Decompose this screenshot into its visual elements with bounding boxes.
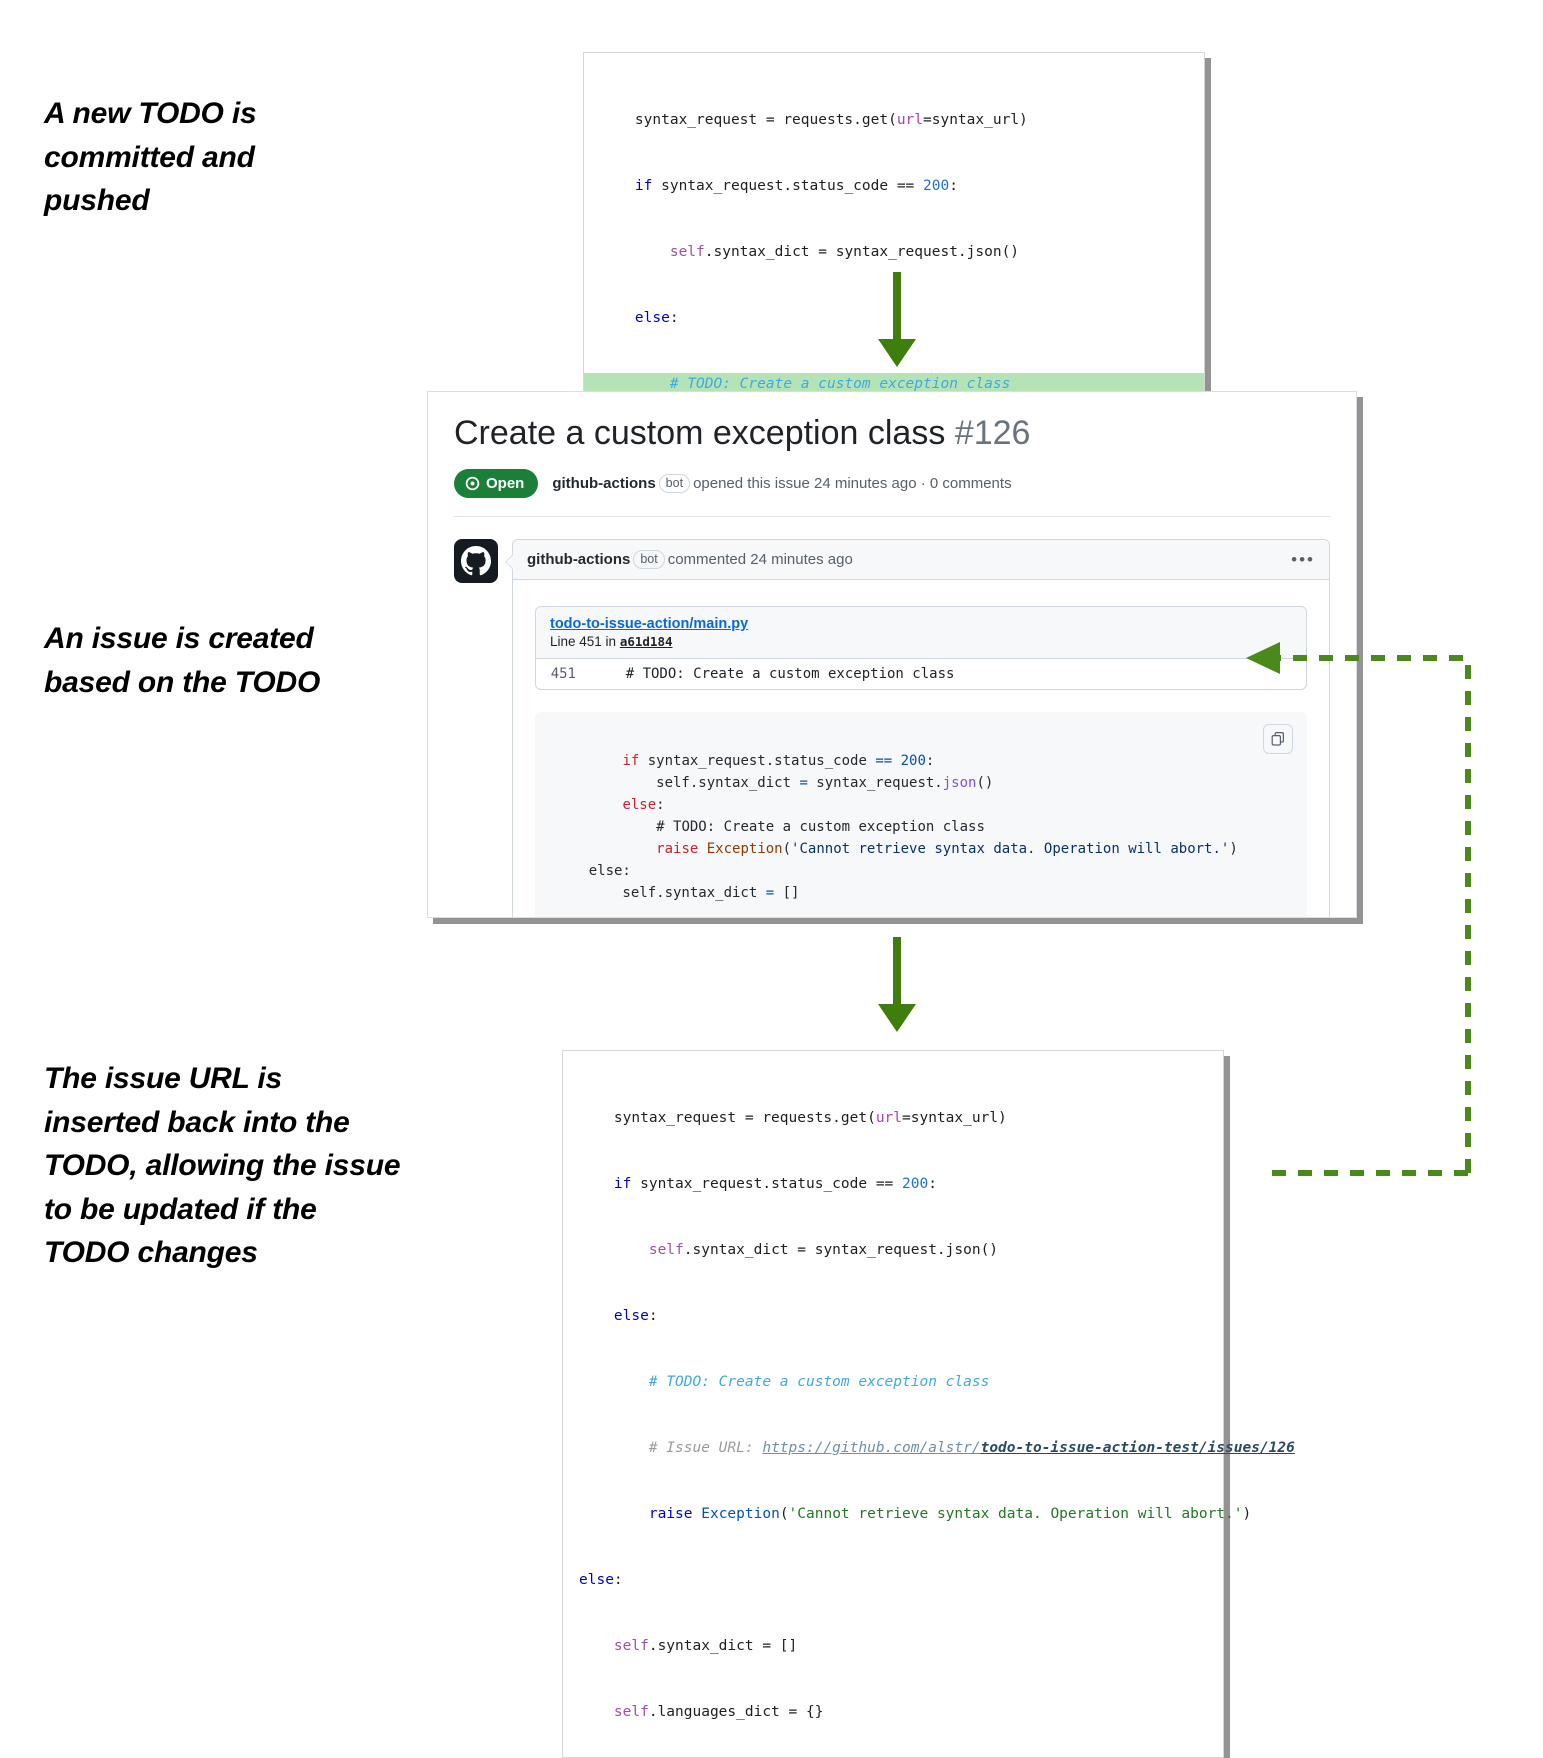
code-line: self.syntax_dict = []	[563, 1635, 1223, 1657]
comment-meta-text: commented 24 minutes ago	[668, 551, 853, 568]
caption-url-inserted: The issue URL is inserted back into the …	[44, 1057, 404, 1275]
code-line: if syntax_request.status_code == 200:	[563, 1173, 1223, 1195]
code-line: self.syntax_dict = syntax_request.json()	[584, 241, 1204, 263]
arrow-down-icon-2	[874, 937, 920, 1038]
code-line: else:	[555, 794, 1287, 816]
code-line: if syntax_request.status_code == 200:	[584, 175, 1204, 197]
issue-author[interactable]: github-actions	[552, 475, 655, 492]
avatar[interactable]	[454, 539, 498, 583]
code-line-issue-url: # Issue URL: https://github.com/alstr/to…	[563, 1437, 1223, 1459]
issue-meta-text: opened this issue 24 minutes ago · 0 com…	[693, 475, 1012, 492]
code-line: self.syntax_dict = syntax_request.json()	[563, 1239, 1223, 1261]
code-line: # TODO: Create a custom exception class	[555, 816, 1287, 838]
permalink-code-row: 451 # TODO: Create a custom exception cl…	[536, 659, 1306, 689]
issue-comment: github-actionsbotcommented 24 minutes ag…	[428, 517, 1356, 918]
code-line: else:	[563, 1569, 1223, 1591]
issue-open-icon	[465, 476, 480, 491]
issue-url-prefix[interactable]: https://github.com/alstr/	[762, 1440, 980, 1456]
code-line: else:	[563, 1305, 1223, 1327]
comment-header: github-actionsbotcommented 24 minutes ag…	[513, 540, 1329, 580]
code-line: self.syntax_dict = []	[555, 882, 1287, 904]
github-issue-panel: Create a custom exception class #126 Ope…	[427, 391, 1357, 918]
code-line: raise Exception('Cannot retrieve syntax …	[555, 838, 1287, 860]
bot-tag: bot	[659, 474, 690, 493]
code-snippet: if syntax_request.status_code == 200: se…	[535, 712, 1307, 918]
permalink-code-text: # TODO: Create a custom exception class	[592, 666, 954, 682]
code-line-todo: # TODO: Create a custom exception class	[563, 1371, 1223, 1393]
code-block-after: syntax_request = requests.get(url=syntax…	[562, 1050, 1224, 1758]
code-line: else:	[555, 860, 1287, 882]
code-line: syntax_request = requests.get(url=syntax…	[584, 109, 1204, 131]
code-line: syntax_request = requests.get(url=syntax…	[563, 1107, 1223, 1129]
code-line: if syntax_request.status_code == 200:	[555, 750, 1287, 772]
code-line: raise Exception('Cannot retrieve syntax …	[563, 1503, 1223, 1525]
comment-author[interactable]: github-actions	[527, 551, 630, 568]
status-badge-label: Open	[486, 475, 524, 492]
page-title: Create a custom exception class #126	[454, 414, 1330, 453]
permalink-file-link[interactable]: todo-to-issue-action/main.py	[550, 616, 1292, 632]
permalink-sha-link[interactable]: a61d184	[620, 634, 673, 649]
permalink-line-prefix: Line 451 in	[550, 634, 620, 649]
status-badge[interactable]: Open	[454, 469, 538, 498]
comment-body: todo-to-issue-action/main.py Line 451 in…	[513, 580, 1329, 918]
caption-issue-created: An issue is created based on the TODO	[44, 617, 374, 704]
permalink-snippet: todo-to-issue-action/main.py Line 451 in…	[535, 606, 1307, 690]
permalink-header: todo-to-issue-action/main.py Line 451 in…	[536, 607, 1306, 659]
comment-box: github-actionsbotcommented 24 minutes ag…	[512, 539, 1330, 918]
caption-commit-push: A new TODO is committed and pushed	[44, 92, 344, 223]
bot-tag: bot	[633, 550, 664, 569]
kebab-horizontal-icon[interactable]: •••	[1291, 555, 1315, 565]
issue-title-text: Create a custom exception class	[454, 414, 945, 452]
code-line: self.syntax_dict = syntax_request.json()	[555, 772, 1287, 794]
issue-number: #126	[955, 414, 1031, 452]
feedback-loop-path	[1240, 640, 1540, 1190]
permalink-line-info: Line 451 in a61d184	[550, 634, 1292, 649]
permalink-lineno: 451	[536, 666, 592, 682]
code-line: self.languages_dict = {}	[563, 1701, 1223, 1723]
issue-header: Create a custom exception class #126 Ope…	[428, 392, 1356, 517]
issue-url-suffix[interactable]: todo-to-issue-action-test/issues/126	[981, 1440, 1295, 1456]
github-mark-icon	[461, 546, 491, 576]
arrow-down-icon-1	[874, 272, 920, 373]
issue-meta-row: Open github-actionsbotopened this issue …	[454, 469, 1330, 517]
issue-byline: github-actionsbotopened this issue 24 mi…	[552, 474, 1011, 493]
